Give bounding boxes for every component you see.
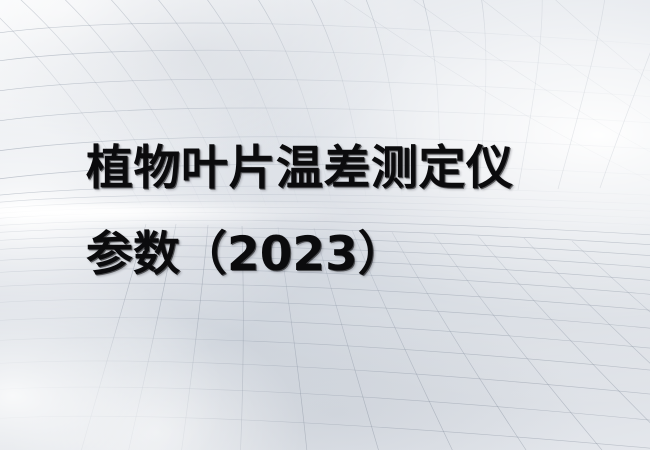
title-block: 植物叶片温差测定仪 参数（2023） [86, 126, 606, 298]
slide-canvas: 植物叶片温差测定仪 参数（2023） [0, 0, 650, 450]
title-line-1: 植物叶片温差测定仪 [86, 126, 606, 212]
title-line-2: 参数（2023） [86, 212, 606, 298]
